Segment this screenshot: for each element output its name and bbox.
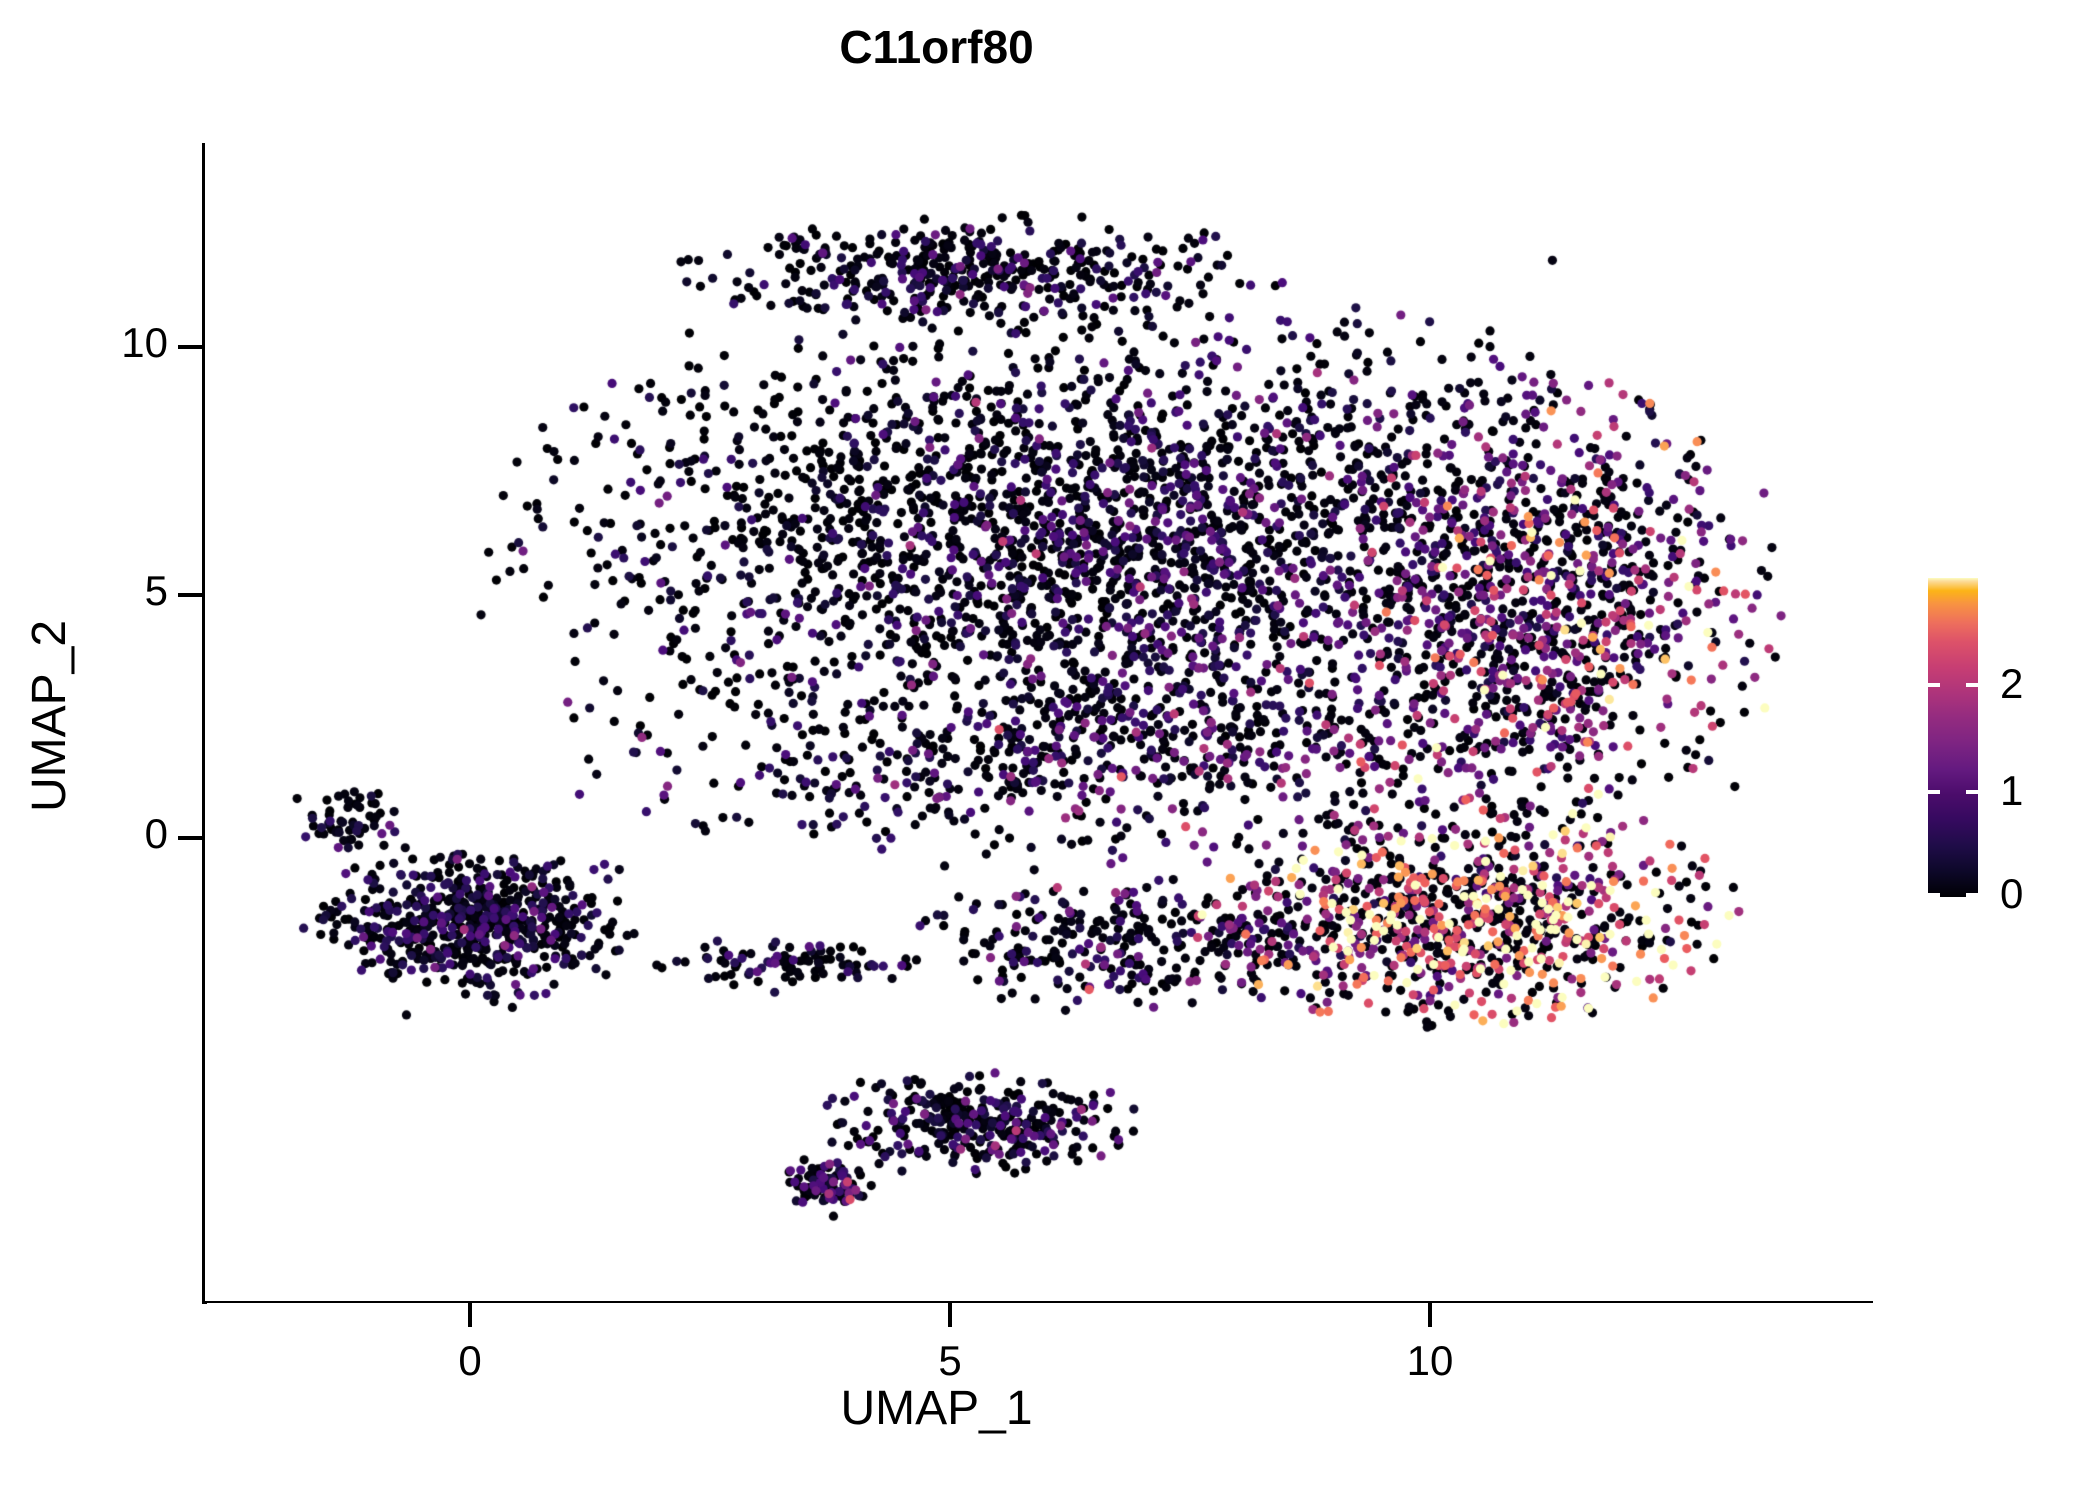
y-tick-mark-5 (178, 593, 202, 597)
x-tick-label-0: 0 (458, 1340, 481, 1382)
x-tick-label-5: 5 (938, 1340, 961, 1382)
x-axis-title: UMAP_1 (0, 1385, 1873, 1433)
colorbar-tick-1-right (1966, 790, 1978, 794)
colorbar-label-1: 1 (2000, 770, 2023, 812)
colorbar-tick-0-right (1966, 893, 1978, 897)
colorbar-label-2: 2 (2000, 663, 2023, 705)
colorbar-tick-2-left (1928, 683, 1940, 687)
scatter-plot-canvas (205, 143, 1873, 1301)
x-tick-mark-5 (948, 1303, 952, 1327)
x-tick-mark-0 (468, 1303, 472, 1327)
colorbar-tick-0-left (1928, 893, 1940, 897)
y-tick-label-0: 0 (145, 813, 168, 855)
colorbar-legend (1928, 578, 1978, 897)
colorbar-gradient (1928, 578, 1978, 897)
y-tick-label-5: 5 (145, 570, 168, 612)
colorbar-tick-2-right (1966, 683, 1978, 687)
x-tick-label-10: 10 (1407, 1340, 1454, 1382)
y-axis-title: UMAP_2 (26, 366, 74, 1066)
y-tick-label-10: 10 (121, 322, 168, 364)
colorbar-label-0: 0 (2000, 873, 2023, 915)
page-title: C11orf80 (0, 24, 1873, 70)
y-tick-mark-10 (178, 345, 202, 349)
y-tick-mark-0 (178, 836, 202, 840)
x-tick-mark-10 (1428, 1303, 1432, 1327)
colorbar-tick-1-left (1928, 790, 1940, 794)
